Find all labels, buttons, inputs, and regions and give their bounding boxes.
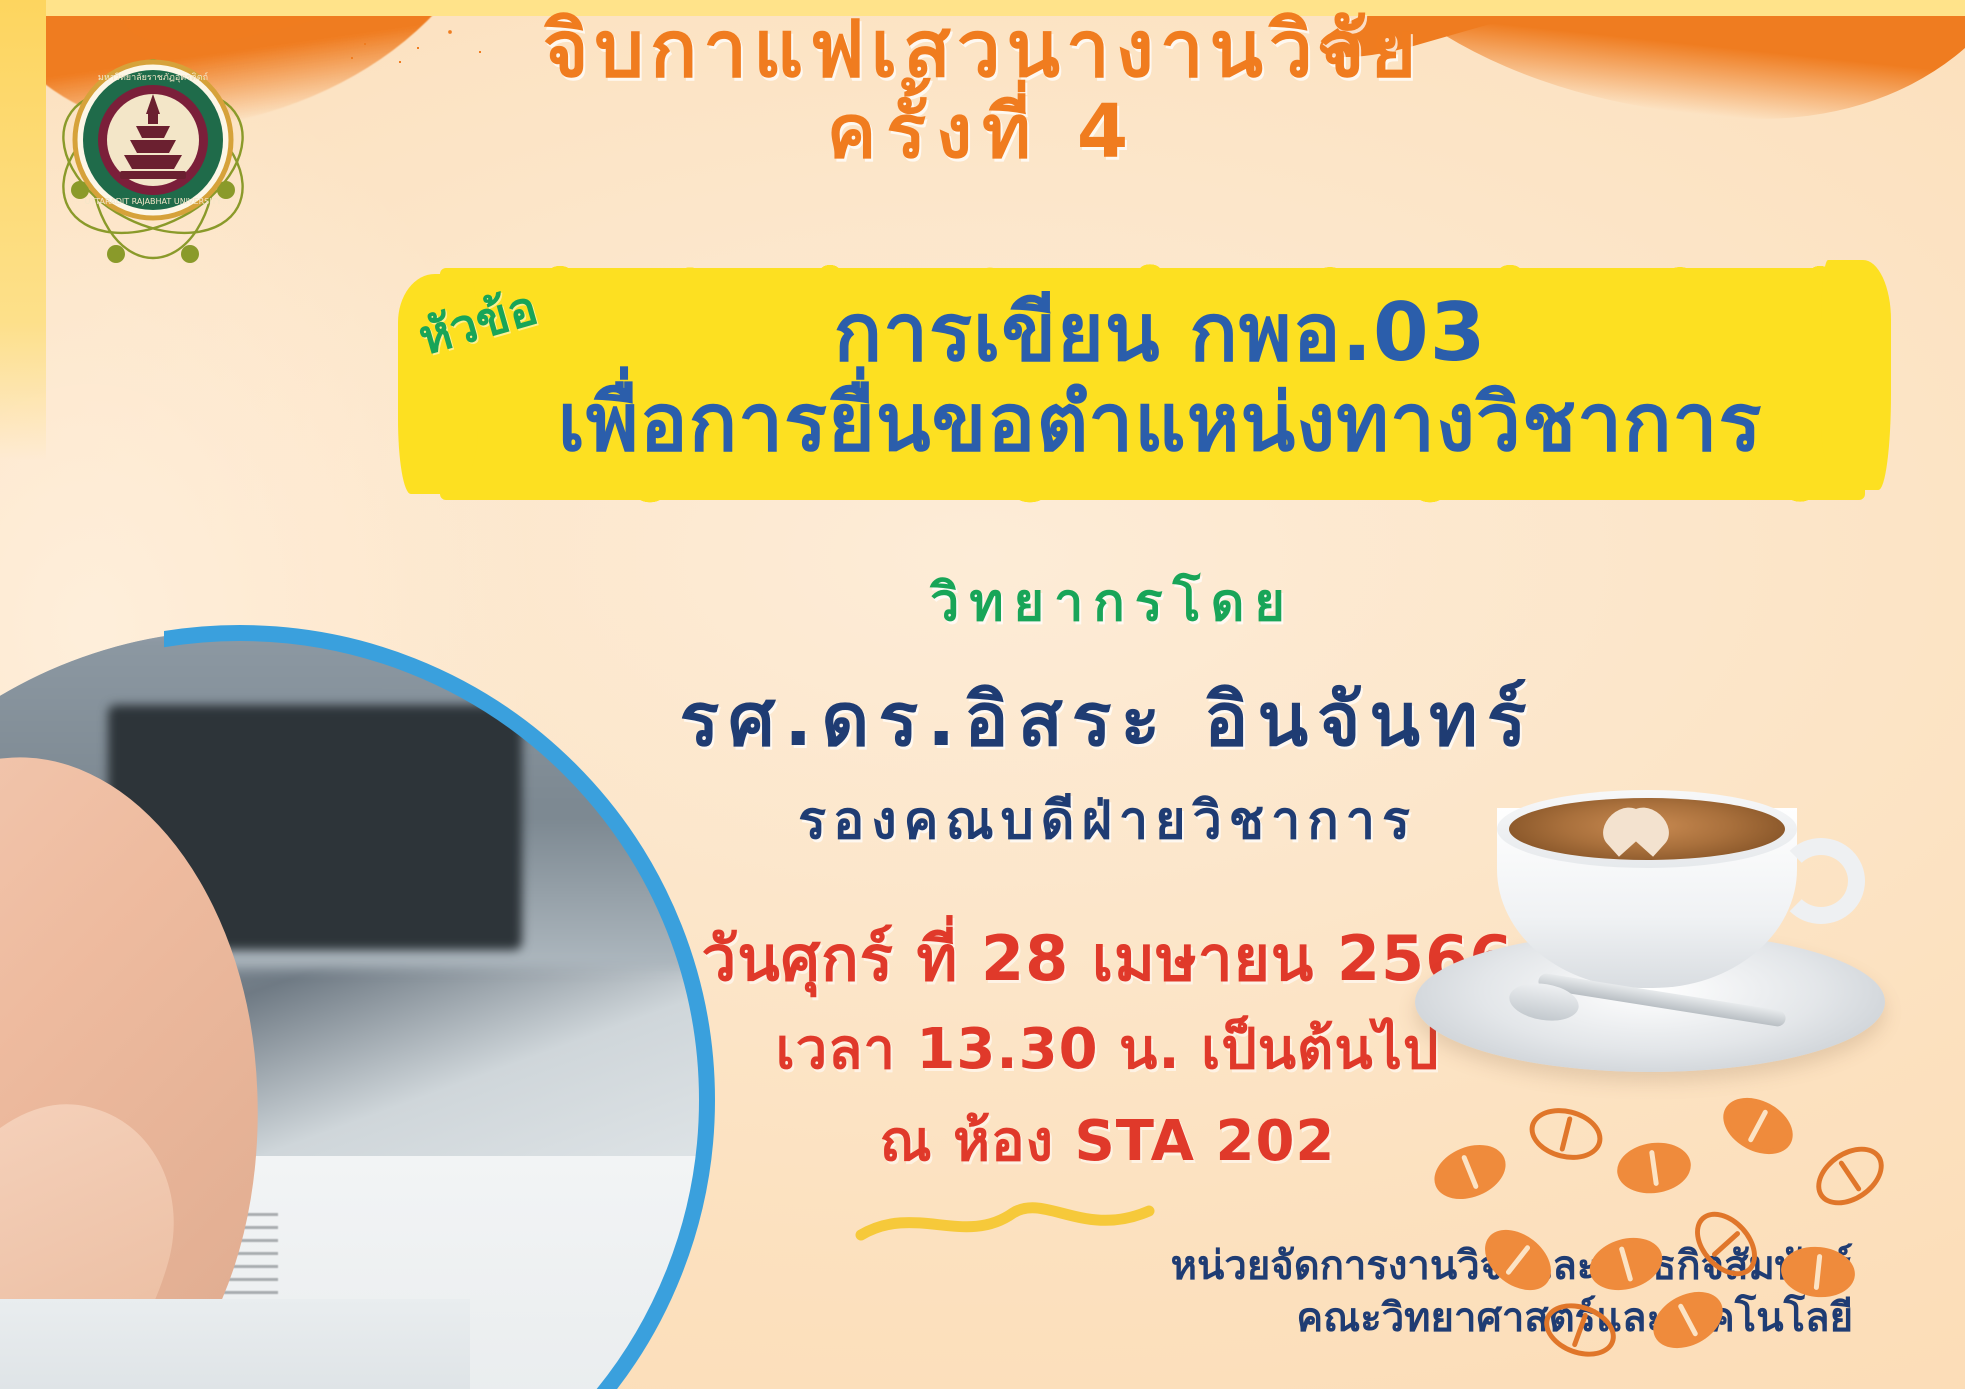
topic-text: การเขียน กพอ.03 เพื่อการยื่นขอตำแหน่งทาง… bbox=[470, 288, 1850, 467]
photo-bottom-strip bbox=[0, 1299, 470, 1389]
cup-handle bbox=[1777, 838, 1865, 924]
svg-text:UTTARADIT RAJABHAT UNIVERSITY: UTTARADIT RAJABHAT UNIVERSITY bbox=[85, 197, 222, 206]
coffee-bean-icon bbox=[1473, 1218, 1562, 1303]
event-poster: มหาวิทยาลัยราชภัฏอุตรดิตถ์ UTTARADIT RAJ… bbox=[0, 0, 1965, 1389]
coffee-bean-icon bbox=[1683, 1200, 1770, 1288]
banner-top-edge bbox=[430, 258, 1870, 280]
topic-line-2: เพื่อการยื่นขอตำแหน่งทางวิชาการ bbox=[470, 378, 1850, 468]
coffee-bean-icon bbox=[1614, 1138, 1694, 1198]
poster-title: จิบกาแฟเสวนางานวิจัย ครั้งที่ 4 bbox=[0, 8, 1965, 174]
banner-bottom-edge bbox=[430, 490, 1870, 510]
coffee-bean-icon bbox=[1805, 1135, 1894, 1218]
coffee-bean-icon bbox=[1584, 1230, 1669, 1298]
topic-line-1: การเขียน กพอ.03 bbox=[470, 288, 1850, 378]
yellow-squiggle-decoration bbox=[855, 1195, 1155, 1251]
coffee-bean-icon bbox=[1779, 1243, 1858, 1300]
coffee-bean-icon bbox=[1524, 1101, 1608, 1167]
title-line-2: ครั้งที่ 4 bbox=[0, 92, 1965, 173]
title-line-1: จิบกาแฟเสวนางานวิจัย bbox=[0, 8, 1965, 92]
coffee-beans-decoration bbox=[1421, 1047, 1941, 1347]
coffee-bean-icon bbox=[1714, 1087, 1803, 1166]
coffee-bean-icon bbox=[1426, 1135, 1513, 1209]
latte-art-heart-icon bbox=[1601, 804, 1693, 850]
